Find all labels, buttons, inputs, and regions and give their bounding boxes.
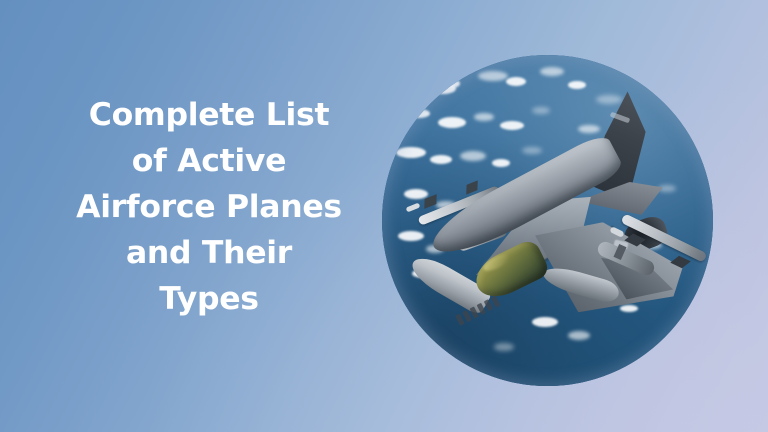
hero-image-circle [382,55,713,386]
title-line-1: Complete List [28,92,390,138]
missile-left-fin [424,194,436,209]
title-line-5: Types [28,276,390,322]
pitot-tube [387,337,401,348]
title-line-4: and Their [28,230,390,276]
title-line-3: Airforce Planes [28,184,390,230]
fighter-jet [382,55,713,386]
page-title: Complete List of Active Airforce Planes … [28,92,390,322]
nose-tip [397,320,426,341]
hero-image [382,55,713,386]
banner: Complete List of Active Airforce Planes … [0,0,768,432]
missile-left-tip [406,203,421,213]
title-line-2: of Active [28,138,390,184]
